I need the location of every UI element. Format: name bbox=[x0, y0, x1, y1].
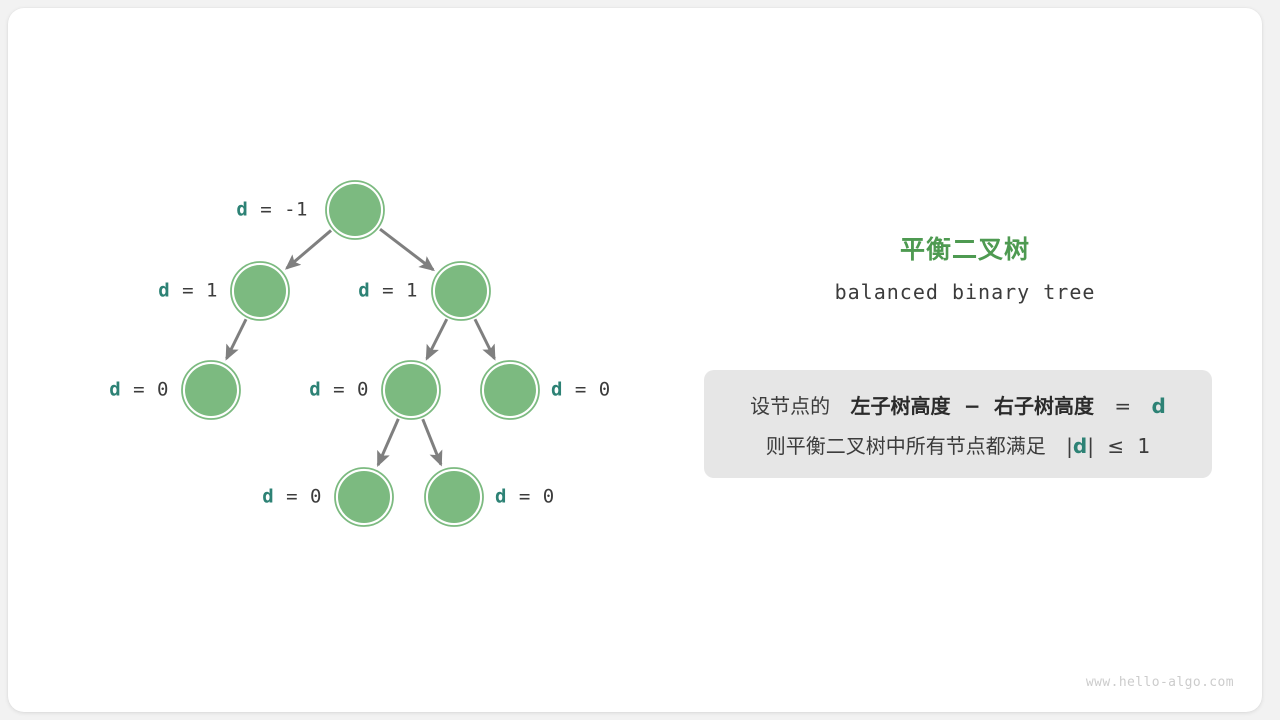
balance-factor-value: = 0 bbox=[563, 379, 611, 401]
figure-card: d = -1d = 1d = 1d = 0d = 0d = 0d = 0d = … bbox=[8, 8, 1262, 712]
tree-node[interactable] bbox=[231, 262, 289, 320]
balance-factor-variable: d bbox=[109, 379, 121, 401]
tree-edge bbox=[427, 319, 447, 359]
balance-factor-variable: d bbox=[262, 486, 274, 508]
balance-factor-value: = 0 bbox=[321, 379, 369, 401]
balance-factor-label: d = 0 bbox=[309, 381, 369, 400]
formula-box: 设节点的 左子树高度 − 右子树高度 = d 则平衡二叉树中所有节点都满足 |d… bbox=[704, 370, 1212, 478]
formula-left-subtree-height: 左子树高度 bbox=[851, 394, 951, 418]
balance-factor-label: d = -1 bbox=[236, 201, 308, 220]
tree-node-circle bbox=[329, 184, 381, 236]
balance-factor-label: d = 1 bbox=[358, 282, 418, 301]
tree-edges bbox=[227, 229, 495, 465]
description-panel: 平衡二叉树 balanced binary tree 设节点的 左子树高度 − … bbox=[668, 8, 1262, 712]
balance-factor-value: = -1 bbox=[248, 199, 308, 221]
formula-variable-d: d bbox=[1152, 394, 1166, 418]
balance-factor-variable: d bbox=[309, 379, 321, 401]
tree-node[interactable] bbox=[335, 468, 393, 526]
formula-abs-bar-open: | bbox=[1066, 434, 1073, 458]
tree-node[interactable] bbox=[326, 181, 384, 239]
tree-node[interactable] bbox=[425, 468, 483, 526]
tree-node-circle bbox=[428, 471, 480, 523]
balance-factor-value: = 0 bbox=[507, 486, 555, 508]
tree-graphics bbox=[8, 8, 668, 712]
formula-line-2: 则平衡二叉树中所有节点都满足 |d| ≤ 1 bbox=[704, 436, 1212, 456]
balance-factor-label: d = 0 bbox=[551, 381, 611, 400]
balance-factor-value: = 1 bbox=[370, 280, 418, 302]
balance-factor-label: d = 0 bbox=[262, 488, 322, 507]
balance-factor-label: d = 0 bbox=[495, 488, 555, 507]
tree-node-circle bbox=[385, 364, 437, 416]
tree-node-circle bbox=[185, 364, 237, 416]
balance-factor-label: d = 1 bbox=[158, 282, 218, 301]
formula-abs-variable-d: d bbox=[1073, 434, 1087, 458]
formula-relation-sign: ≤ bbox=[1107, 434, 1124, 458]
balance-factor-variable: d bbox=[495, 486, 507, 508]
formula-condition-prefix: 则平衡二叉树中所有节点都满足 bbox=[766, 434, 1046, 458]
formula-equals-sign: = bbox=[1114, 394, 1131, 418]
formula-minus-sign: − bbox=[964, 394, 981, 418]
formula-right-subtree-height: 右子树高度 bbox=[994, 394, 1094, 418]
tree-node[interactable] bbox=[382, 361, 440, 419]
tree-edge bbox=[378, 419, 398, 465]
tree-edge bbox=[287, 230, 331, 268]
balance-factor-value: = 1 bbox=[170, 280, 218, 302]
balance-factor-value: = 0 bbox=[274, 486, 322, 508]
page-background: d = -1d = 1d = 1d = 0d = 0d = 0d = 0d = … bbox=[0, 0, 1280, 720]
tree-node[interactable] bbox=[432, 262, 490, 320]
formula-line-1: 设节点的 左子树高度 − 右子树高度 = d bbox=[704, 396, 1212, 416]
panel-title: 平衡二叉树 bbox=[668, 230, 1262, 266]
balance-factor-label: d = 0 bbox=[109, 381, 169, 400]
tree-node[interactable] bbox=[182, 361, 240, 419]
formula-abs-bar-close: | bbox=[1087, 434, 1094, 458]
tree-nodes bbox=[182, 181, 539, 526]
balance-factor-variable: d bbox=[236, 199, 248, 221]
watermark-url: www.hello-algo.com bbox=[1086, 675, 1234, 690]
tree-diagram: d = -1d = 1d = 1d = 0d = 0d = 0d = 0d = … bbox=[8, 8, 668, 712]
formula-bound-value: 1 bbox=[1137, 434, 1150, 458]
tree-edge bbox=[423, 419, 441, 464]
tree-node-circle bbox=[338, 471, 390, 523]
tree-node-circle bbox=[435, 265, 487, 317]
tree-node-circle bbox=[484, 364, 536, 416]
formula-prefix: 设节点的 bbox=[750, 394, 830, 418]
tree-node[interactable] bbox=[481, 361, 539, 419]
tree-edge bbox=[227, 319, 247, 358]
balance-factor-variable: d bbox=[551, 379, 563, 401]
balance-factor-variable: d bbox=[358, 280, 370, 302]
tree-edge bbox=[475, 319, 495, 358]
tree-node-circle bbox=[234, 265, 286, 317]
panel-subtitle: balanced binary tree bbox=[668, 280, 1262, 304]
balance-factor-variable: d bbox=[158, 280, 170, 302]
tree-edge bbox=[380, 229, 433, 270]
balance-factor-value: = 0 bbox=[121, 379, 169, 401]
